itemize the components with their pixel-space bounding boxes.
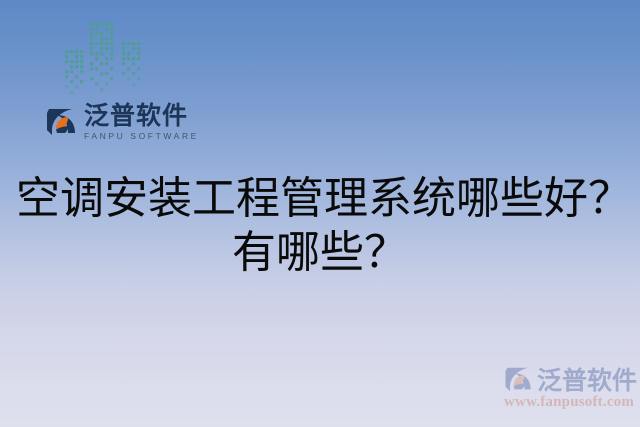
promo-banner: 泛普软件 FANPU SOFTWARE 空调安装工程管理系统哪些好？ 有哪些？ … (0, 0, 640, 427)
watermark-url: www.fanpusoft.com (504, 394, 638, 411)
page-title: 空调安装工程管理系统哪些好？ 有哪些？ (0, 172, 640, 280)
brand-name-en: FANPU SOFTWARE (84, 132, 199, 141)
brand-name-cn: 泛普软件 (84, 104, 199, 129)
page-title-line-1: 空调安装工程管理系统哪些好？ (0, 172, 640, 226)
watermark-name-cn: 泛普软件 (537, 361, 637, 397)
watermark: 泛普软件 www.fanpusoft.com (504, 364, 638, 411)
pixel-skyline-icon (60, 14, 172, 102)
fanpu-logo-mark-icon (46, 107, 78, 137)
page-title-line-2: 有哪些？ (0, 226, 640, 280)
fanpu-logo-mark-watermark-icon (504, 366, 534, 393)
brand-logo: 泛普软件 FANPU SOFTWARE (46, 100, 199, 144)
watermark-logo-row: 泛普软件 (504, 364, 638, 394)
brand-wordmark: 泛普软件 FANPU SOFTWARE (84, 104, 199, 141)
